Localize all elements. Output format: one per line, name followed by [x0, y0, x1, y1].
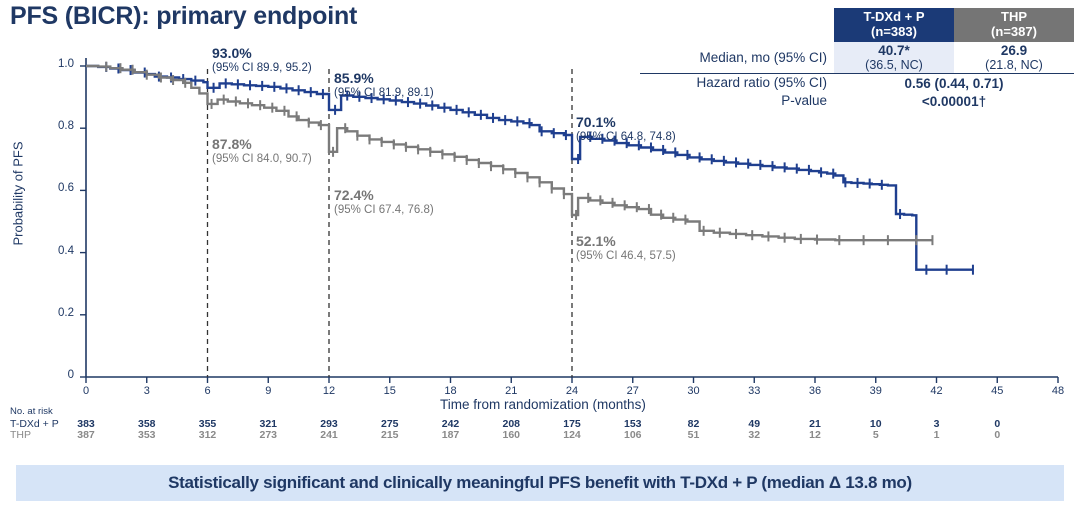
x-tick-label: 3: [127, 385, 167, 397]
landmark-annotation-blue-6mo: 93.0%(95% CI 89.9, 95.2): [212, 46, 312, 75]
risk-value: 160: [494, 429, 528, 441]
landmark-percent: 52.1%: [576, 234, 676, 250]
risk-value: 353: [130, 429, 164, 441]
median-big-thp: 26.9: [958, 43, 1070, 58]
arm-n-tdxd: (n=383): [871, 24, 917, 39]
median-ci-tdxd: (36.5, NC): [838, 58, 950, 72]
x-tick-label: 18: [431, 385, 471, 397]
x-tick-label: 0: [66, 385, 106, 397]
arm-header-thp: THP (n=387): [954, 8, 1074, 42]
risk-value: 124: [555, 429, 589, 441]
y-tick-label: 0.6: [44, 182, 74, 194]
median-value-thp: 26.9 (21.8, NC): [954, 42, 1074, 74]
x-tick-label: 15: [370, 385, 410, 397]
x-tick-label: 33: [734, 385, 774, 397]
median-big-tdxd: 40.7*: [838, 43, 950, 58]
arm-name-tdxd: T-DXd + P: [863, 9, 924, 24]
hazard-ratio-value: 0.56 (0.44, 0.71): [834, 74, 1074, 92]
results-table: T-DXd + P (n=383) THP (n=387) Median, mo…: [640, 8, 1074, 110]
x-tick-label: 6: [188, 385, 228, 397]
landmark-percent: 87.8%: [212, 137, 312, 153]
y-tick-label: 0: [44, 369, 74, 381]
x-tick-label: 9: [248, 385, 288, 397]
landmark-annotation-blue-24mo: 70.1%(95% CI 64.8, 74.8): [576, 115, 676, 144]
row-label-p-value: P-value: [640, 92, 834, 110]
arm-n-thp: (n=387): [991, 24, 1037, 39]
x-axis-title: Time from randomization (months): [440, 397, 646, 412]
arm-header-tdxd: T-DXd + P (n=383): [834, 8, 954, 42]
x-tick-label: 39: [856, 385, 896, 397]
risk-value: 215: [373, 429, 407, 441]
footer-banner-text: Statistically significant and clinically…: [168, 473, 912, 493]
y-axis-title: Probability of PFS: [11, 114, 26, 274]
risk-value: 0: [980, 429, 1014, 441]
footer-banner: Statistically significant and clinically…: [16, 465, 1064, 501]
landmark-percent: 93.0%: [212, 46, 312, 62]
row-label-hazard-ratio: Hazard ratio (95% CI): [640, 74, 834, 92]
x-tick-label: 42: [917, 385, 957, 397]
landmark-annotation-blue-12mo: 85.9%(95% CI 81.9, 89.1): [334, 71, 434, 100]
y-tick-label: 0.2: [44, 307, 74, 319]
risk-value: 312: [191, 429, 225, 441]
risk-value: 106: [616, 429, 650, 441]
slide-root: PFS (BICR): primary endpoint Probability…: [0, 0, 1080, 509]
results-row-hazard-ratio: Hazard ratio (95% CI) 0.56 (0.44, 0.71): [640, 74, 1074, 92]
x-tick-label: 48: [1038, 385, 1078, 397]
results-row-p-value: P-value <0.00001†: [640, 92, 1074, 110]
risk-value: 241: [312, 429, 346, 441]
landmark-percent: 70.1%: [576, 115, 676, 131]
y-tick-label: 0.4: [44, 245, 74, 257]
landmark-ci: (95% CI 46.4, 57.5): [576, 250, 676, 263]
landmark-ci: (95% CI 84.0, 90.7): [212, 153, 312, 166]
risk-value: 273: [251, 429, 285, 441]
risk-value: 187: [434, 429, 468, 441]
landmark-ci: (95% CI 64.8, 74.8): [576, 131, 676, 144]
risk-value: 51: [677, 429, 711, 441]
x-tick-label: 45: [977, 385, 1017, 397]
landmark-percent: 85.9%: [334, 71, 434, 87]
p-value-value: <0.00001†: [834, 92, 1074, 110]
results-table-header-row: T-DXd + P (n=383) THP (n=387): [640, 8, 1074, 42]
risk-value: 32: [737, 429, 771, 441]
landmark-ci: (95% CI 81.9, 89.1): [334, 87, 434, 100]
x-tick-label: 12: [309, 385, 349, 397]
y-tick-label: 0.8: [44, 120, 74, 132]
row-label-median: Median, mo (95% CI): [640, 42, 834, 74]
risk-value: 12: [798, 429, 832, 441]
x-tick-label: 21: [491, 385, 531, 397]
landmark-annotation-gray-6mo: 87.8%(95% CI 84.0, 90.7): [212, 137, 312, 166]
risk-value: 5: [859, 429, 893, 441]
arm-name-thp: THP: [1001, 9, 1027, 24]
x-tick-label: 24: [552, 385, 592, 397]
x-tick-label: 36: [795, 385, 835, 397]
median-value-tdxd: 40.7* (36.5, NC): [834, 42, 954, 74]
risk-value: 1: [920, 429, 954, 441]
risk-value: 387: [69, 429, 103, 441]
number-at-risk-title: No. at risk: [10, 406, 53, 417]
header-spacer: [640, 8, 834, 42]
x-tick-label: 30: [674, 385, 714, 397]
median-ci-thp: (21.8, NC): [958, 58, 1070, 72]
landmark-ci: (95% CI 89.9, 95.2): [212, 62, 312, 75]
landmark-annotation-gray-24mo: 52.1%(95% CI 46.4, 57.5): [576, 234, 676, 263]
landmark-ci: (95% CI 67.4, 76.8): [334, 204, 434, 217]
y-tick-label: 1.0: [44, 58, 74, 70]
landmark-percent: 72.4%: [334, 188, 434, 204]
x-tick-label: 27: [613, 385, 653, 397]
landmark-annotation-gray-12mo: 72.4%(95% CI 67.4, 76.8): [334, 188, 434, 217]
results-row-median: Median, mo (95% CI) 40.7* (36.5, NC) 26.…: [640, 42, 1074, 74]
risk-row-label-thp: THP: [10, 429, 31, 441]
